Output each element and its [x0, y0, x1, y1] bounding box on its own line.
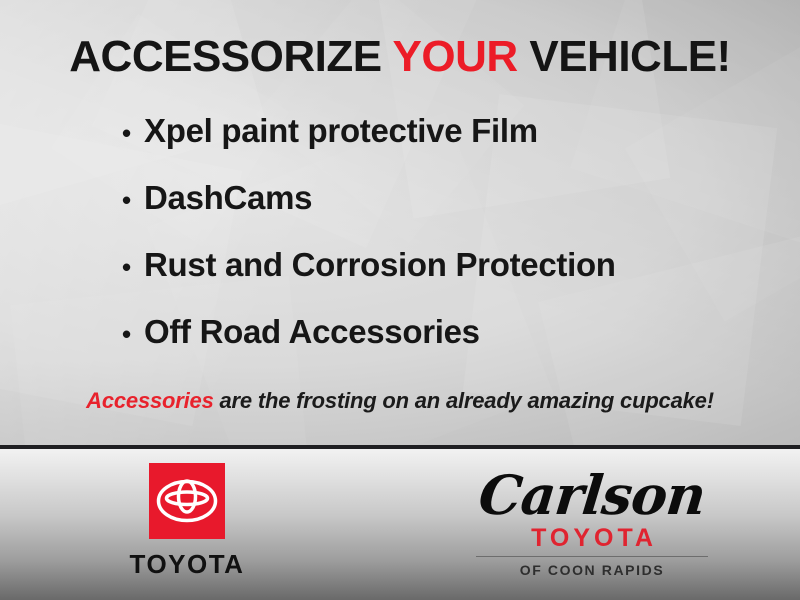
list-item-label: Xpel paint protective Film	[144, 112, 538, 150]
dealer-location: OF COON RAPIDS	[472, 562, 712, 578]
poster-footer: TOYOTA Carlson TOYOTA OF COON RAPIDS	[0, 449, 800, 600]
bullet-icon: •	[122, 321, 144, 347]
tagline: Accessories are the frosting on an alrea…	[0, 388, 800, 414]
list-item: • Off Road Accessories	[122, 313, 782, 380]
dealer-script-name: Carlson	[469, 469, 715, 522]
dealer-rule	[476, 556, 708, 557]
promo-poster: ACCESSORIZE YOUR VEHICLE! • Xpel paint p…	[0, 0, 800, 600]
list-item-label: DashCams	[144, 179, 312, 217]
dealer-logo: Carlson TOYOTA OF COON RAPIDS	[472, 469, 712, 578]
poster-top-section: ACCESSORIZE YOUR VEHICLE! • Xpel paint p…	[0, 0, 800, 447]
tagline-accent-word: Accessories	[86, 388, 213, 413]
dealer-brand-name: TOYOTA	[472, 524, 712, 553]
headline-part-before: ACCESSORIZE	[69, 32, 392, 81]
list-item-label: Rust and Corrosion Protection	[144, 246, 616, 284]
toyota-brand-block: TOYOTA	[107, 463, 267, 580]
page-title: ACCESSORIZE YOUR VEHICLE!	[0, 32, 800, 82]
bullet-icon: •	[122, 187, 144, 213]
tagline-rest: are the frosting on an already amazing c…	[214, 388, 714, 413]
headline-accent-word: YOUR	[393, 32, 518, 81]
bullet-icon: •	[122, 254, 144, 280]
list-item: • Xpel paint protective Film	[122, 112, 782, 179]
toyota-wordmark: TOYOTA	[107, 549, 267, 580]
bullet-icon: •	[122, 120, 144, 146]
toyota-emblem-icon	[149, 463, 225, 539]
headline-part-after: VEHICLE!	[518, 32, 731, 81]
list-item-label: Off Road Accessories	[144, 313, 480, 351]
accessory-list: • Xpel paint protective Film • DashCams …	[122, 112, 782, 380]
list-item: • Rust and Corrosion Protection	[122, 246, 782, 313]
list-item: • DashCams	[122, 179, 782, 246]
